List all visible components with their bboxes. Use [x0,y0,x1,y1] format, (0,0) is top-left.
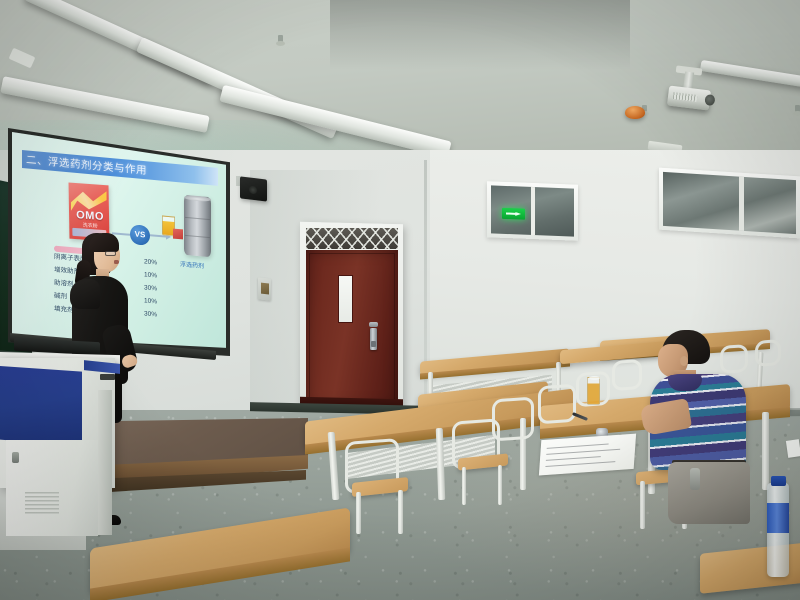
paper-document [539,434,636,476]
seated-attendee [644,330,774,530]
wall-speaker [240,176,267,201]
presenter-fringe [89,233,119,252]
classroom-door[interactable] [306,250,398,406]
presenter-mouth [114,260,119,264]
chair-leg [398,490,403,534]
door-handle[interactable] [370,328,377,350]
lectern-vent [25,492,59,514]
exit-sign-icon [502,208,525,220]
lectern-side-face [98,390,112,535]
lectern-lock-icon[interactable] [12,452,19,463]
chair [612,359,642,391]
lattice-grille [306,228,398,249]
lectern-nameplate [100,374,115,380]
classroom-photo-scene: 二、浮选药剂分类与作用 OMO 洗衣粉 VS 浮选药剂 阴离子表面活性剂 [0,0,800,600]
chair-leg [356,492,361,534]
window-glass [663,172,796,234]
water-bottle-label [767,503,789,533]
wall-switch-plate[interactable] [258,277,271,300]
chair [538,384,576,425]
tea-glass [587,377,600,405]
interior-window-right [659,168,800,239]
window-mullion [531,187,535,235]
sprinkler-head-icon [793,105,800,118]
chair-leg [462,467,466,505]
door-lock-plate[interactable] [369,322,378,327]
sprinkler-head-icon [276,35,285,48]
projector-vent [673,92,698,102]
lectern-cabinet[interactable] [6,440,98,536]
lectern-front-panel [0,366,82,446]
ceiling-shadow-band [330,0,630,70]
chair [492,397,534,442]
attendee-collar [668,375,702,391]
door-transom [306,228,398,249]
attendee-ear [680,356,688,366]
water-bottle-cap [771,476,786,486]
interior-window-left [487,181,578,240]
presenter-glasses-icon [105,251,116,256]
attendee-keys [690,468,700,490]
presenter-shoulder [70,279,100,309]
window-mullion [739,177,744,231]
alarm-dome-icon [625,106,645,119]
attendee-trousers [668,462,750,524]
door-glass-panel [338,275,353,323]
chair-leg [498,465,502,505]
paper-scrap [786,439,800,458]
